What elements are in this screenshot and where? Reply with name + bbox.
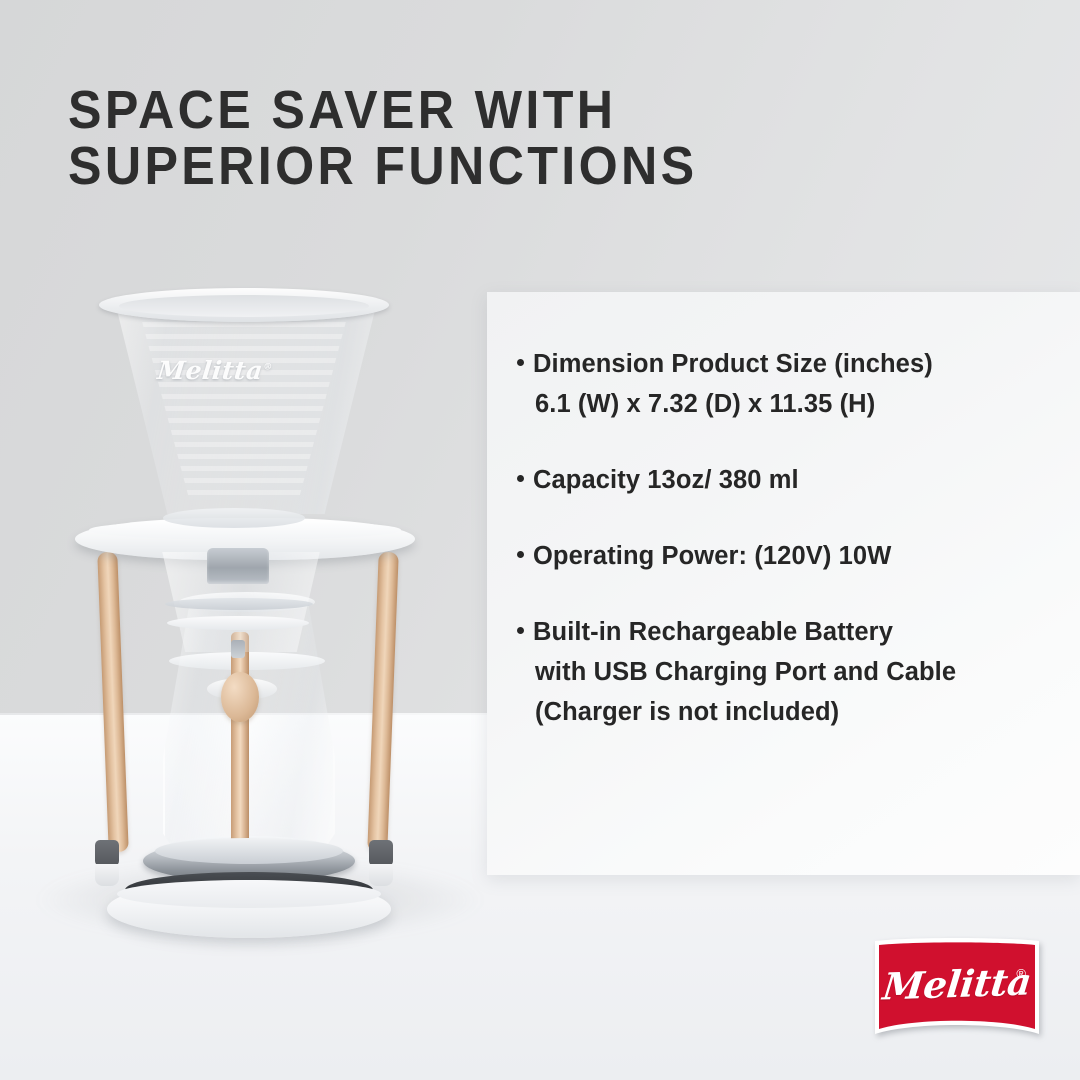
dripper-rim-inner [119,295,369,317]
wooden-leg-right [367,552,399,853]
filter-holder-ring [165,598,313,610]
filter-holder-ring-lower [167,616,309,630]
dripper-registered-icon: ® [263,363,274,373]
metal-plate-top [155,838,343,864]
specifications-list: Dimension Product Size (inches) 6.1 (W) … [517,344,1062,732]
list-item: Operating Power: (120V) 10W [517,536,1062,576]
foot-right [369,864,393,886]
dripper-brand-mark: Melitta® [148,356,281,385]
product-marketing-image: SPACE SAVER WITH SUPERIOR FUNCTIONS Meli… [0,0,1080,1080]
bullet-icon [517,627,524,634]
page-title: SPACE SAVER WITH SUPERIOR FUNCTIONS [68,82,840,194]
bullet-icon [517,359,524,366]
drip-spout [231,640,245,658]
dripper-brand-text: Melitta [156,356,264,385]
spec-line: Capacity 13oz/ 380 ml [533,460,1062,500]
registered-trademark-icon: ® [1016,966,1026,981]
spec-line: with USB Charging Port and Cable [533,652,1062,692]
wooden-leg-left [97,552,129,853]
melitta-logo: Melitta ® [872,936,1042,1039]
leg-tip-left [95,840,119,866]
headline-line-1: SPACE SAVER WITH [68,82,840,138]
spec-line: Operating Power: (120V) 10W [533,536,1062,576]
headline-line-2: SUPERIOR FUNCTIONS [68,138,840,194]
dripper-cone-base [163,508,305,528]
melitta-logo-shape [872,936,1042,1039]
wooden-center-post [231,632,249,862]
filter-holder-cap [207,548,269,584]
list-item: Built-in Rechargeable Battery with USB C… [517,612,1062,732]
product-image-coffee-maker: Melitta® [55,280,455,940]
foot-left [95,864,119,886]
list-item: Dimension Product Size (inches) 6.1 (W) … [517,344,1062,424]
spec-line: Dimension Product Size (inches) [533,344,1062,384]
bullet-icon [517,475,524,482]
leg-tip-right [369,840,393,866]
bullet-icon [517,551,524,558]
spec-line: Built-in Rechargeable Battery [533,612,1062,652]
spec-line: (Charger is not included) [533,692,1062,732]
wooden-knob [221,672,259,722]
specifications-panel: Dimension Product Size (inches) 6.1 (W) … [487,292,1080,875]
list-item: Capacity 13oz/ 380 ml [517,460,1062,500]
white-base-top [117,880,381,908]
spec-line: 6.1 (W) x 7.32 (D) x 11.35 (H) [533,384,1062,424]
